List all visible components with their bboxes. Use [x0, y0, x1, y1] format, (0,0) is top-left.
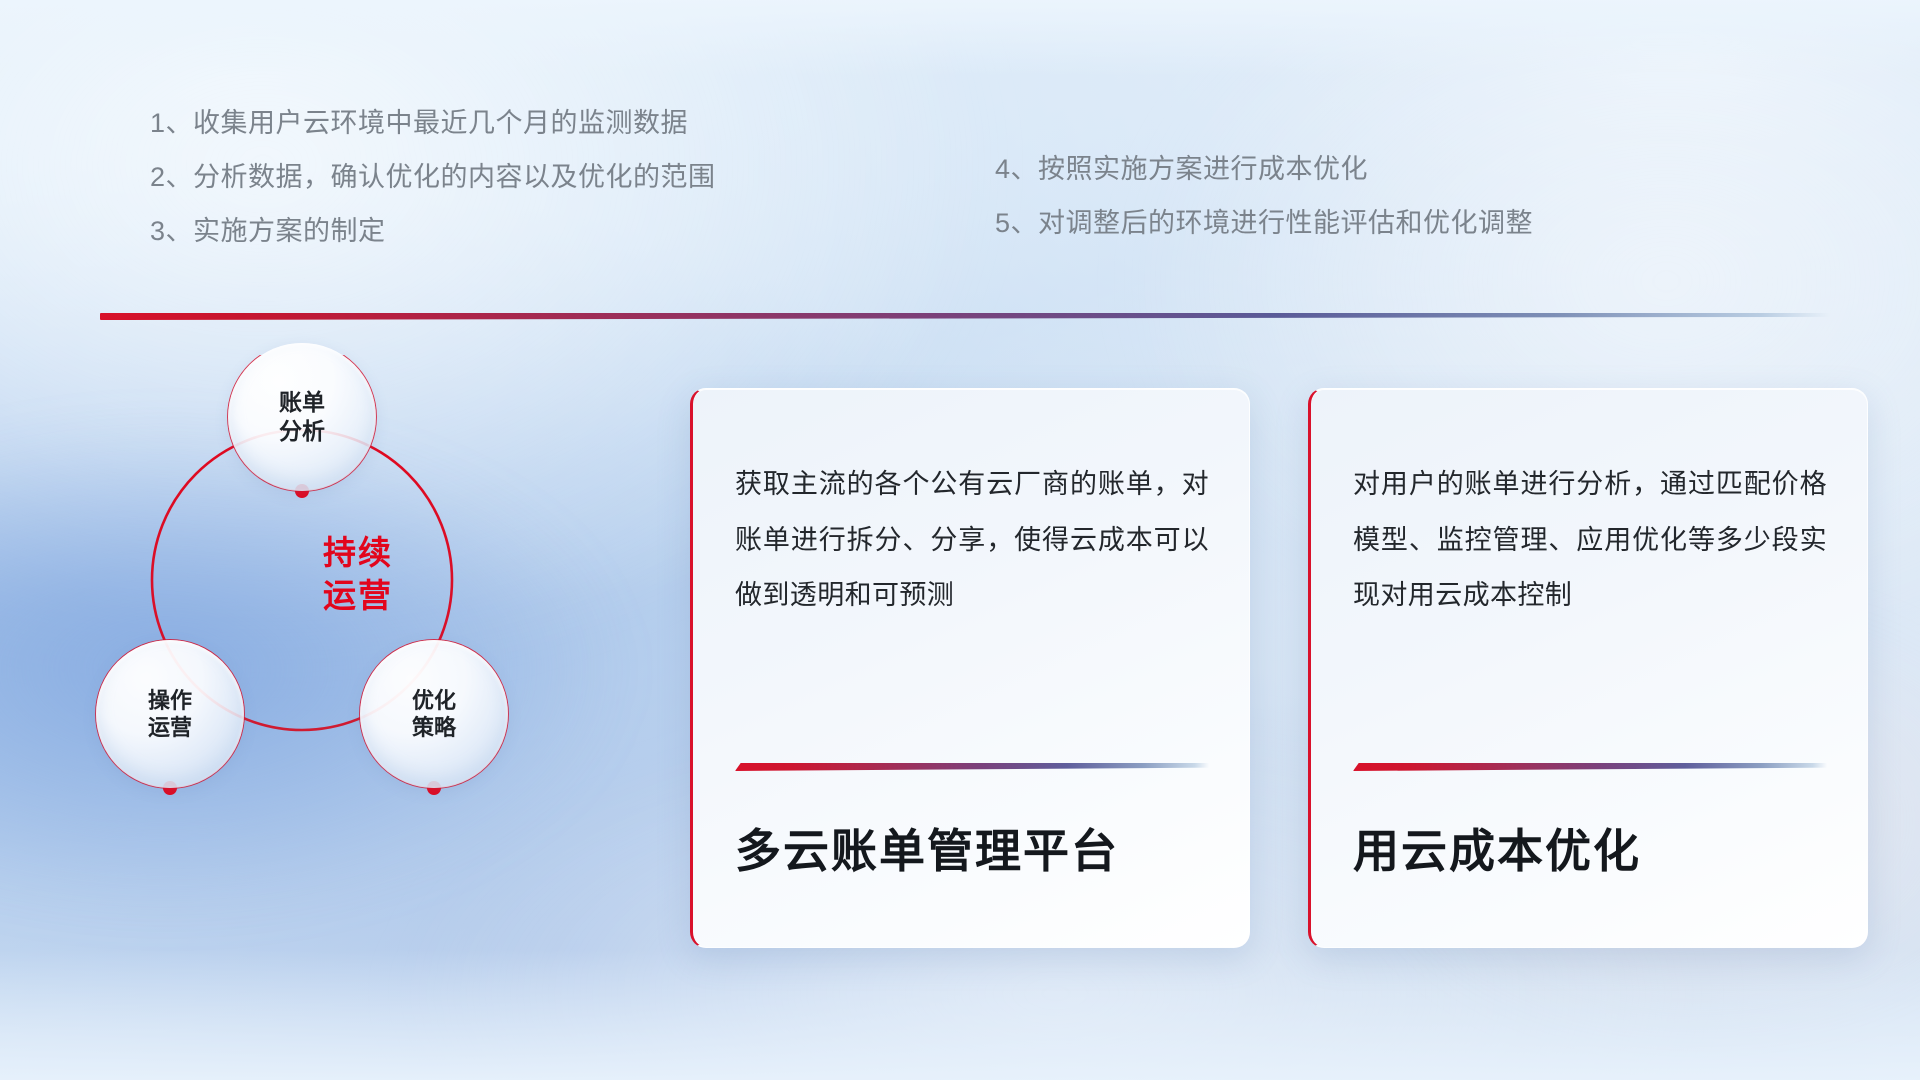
venn-bubble-label-line1: 优化	[412, 687, 456, 715]
background-edge-bottom	[0, 950, 1920, 1080]
venn-bubble-label-line2: 运营	[148, 714, 192, 742]
step-item-4: 4、按照实施方案进行成本优化	[995, 142, 1533, 196]
card-title: 用云成本优化	[1353, 815, 1827, 881]
card-description: 对用户的账单进行分析，通过匹配价格模型、监控管理、应用优化等多少段实现对用云成本…	[1353, 457, 1827, 624]
venn-bubble-optimize-policy[interactable]: 优化 策略	[360, 640, 508, 788]
venn-bubble-label-line1: 操作	[148, 687, 192, 715]
venn-diagram: 账单 分析 操作 运营 优化 策略 持续 运营	[88, 355, 608, 940]
step-item-1: 1、收集用户云环境中最近几个月的监测数据	[150, 96, 716, 150]
card-title: 多云账单管理平台	[735, 815, 1209, 881]
venn-center-line2: 运营	[323, 575, 393, 618]
card-description: 获取主流的各个公有云厂商的账单，对账单进行拆分、分享，使得云成本可以做到透明和可…	[735, 457, 1209, 624]
card-accent-rule	[1353, 763, 1827, 771]
card-accent-rule	[735, 763, 1209, 771]
venn-bubble-bill-analysis[interactable]: 账单 分析	[228, 343, 376, 491]
feature-card-cloud-cost-optimization[interactable]: 对用户的账单进行分析，通过匹配价格模型、监控管理、应用优化等多少段实现对用云成本…	[1308, 388, 1868, 948]
feature-card-multi-cloud-bill-platform[interactable]: 获取主流的各个公有云厂商的账单，对账单进行拆分、分享，使得云成本可以做到透明和可…	[690, 388, 1250, 948]
background-edge-top	[0, 0, 1920, 76]
step-item-2: 2、分析数据，确认优化的内容以及优化的范围	[150, 150, 716, 204]
venn-center-label: 持续 运营	[253, 505, 463, 645]
venn-bubble-operation-ops[interactable]: 操作 运营	[96, 640, 244, 788]
steps-right-column: 4、按照实施方案进行成本优化 5、对调整后的环境进行性能评估和优化调整	[995, 142, 1533, 250]
step-item-3: 3、实施方案的制定	[150, 204, 716, 258]
venn-bubble-label-line2: 分析	[279, 417, 325, 446]
venn-bubble-label-line1: 账单	[279, 388, 325, 417]
steps-left-column: 1、收集用户云环境中最近几个月的监测数据 2、分析数据，确认优化的内容以及优化的…	[150, 96, 716, 258]
venn-bubble-label-line2: 策略	[412, 714, 456, 742]
step-item-5: 5、对调整后的环境进行性能评估和优化调整	[995, 196, 1533, 250]
venn-center-line1: 持续	[323, 532, 393, 575]
